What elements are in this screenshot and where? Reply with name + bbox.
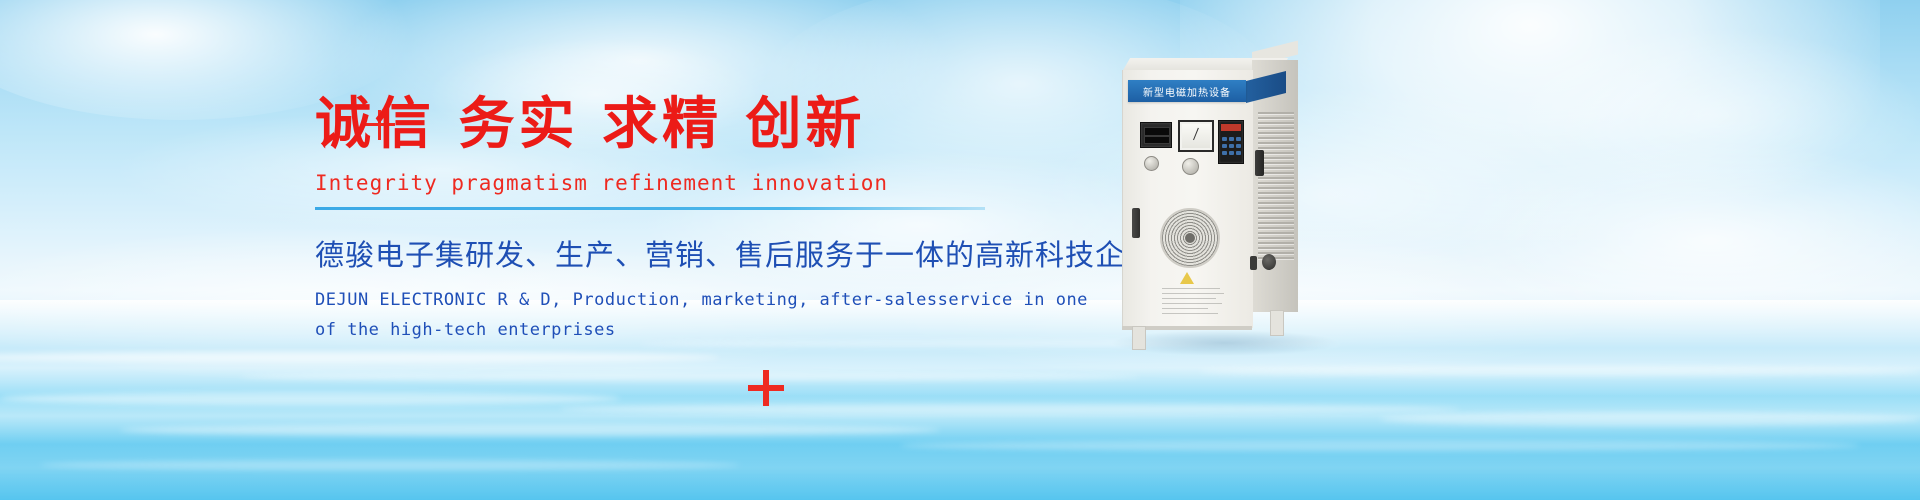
subtitle-english-line2: of the high-tech enterprises xyxy=(315,316,1035,346)
machine-handle xyxy=(1132,208,1140,238)
controller-display-bottom xyxy=(1144,136,1170,144)
headline-chinese: 诚信 务实 求精 创新 xyxy=(315,96,1035,155)
machine-label-banner: 新型电磁加热设备 xyxy=(1128,80,1246,102)
water-streak xyxy=(900,440,1860,451)
water-streak xyxy=(1380,412,1920,426)
water-streak xyxy=(0,392,620,405)
plus-mark-icon xyxy=(748,370,784,406)
warning-triangle-icon xyxy=(1180,272,1194,284)
water-streak xyxy=(40,460,740,470)
fan-grille xyxy=(1160,208,1220,268)
product-image-heating-machine: 新型电磁加热设备 xyxy=(1122,58,1312,358)
controller-display-top xyxy=(1144,127,1170,136)
subtitle-english-line1: DEJUN ELECTRONIC R & D, Production, mark… xyxy=(315,286,1035,316)
headline-english: Integrity pragmatism refinement innovati… xyxy=(315,171,1035,195)
machine-vent-slots xyxy=(1258,112,1294,262)
banner-copy: 诚信 务实 求精 创新 Integrity pragmatism refinem… xyxy=(315,96,1035,345)
promo-banner: 诚信 务实 求精 创新 Integrity pragmatism refinem… xyxy=(0,0,1920,500)
machine-leg xyxy=(1132,326,1146,350)
water-streak xyxy=(1200,366,1920,376)
machine-connector xyxy=(1250,256,1257,270)
potentiometer-knob[interactable] xyxy=(1182,158,1199,175)
machine-label-text: 新型电磁加热设备 xyxy=(1143,84,1231,99)
digital-controller[interactable] xyxy=(1140,122,1172,148)
water-streak xyxy=(240,372,1140,381)
divider xyxy=(315,207,985,210)
water-streak xyxy=(120,424,940,436)
machine-outlet-port xyxy=(1262,254,1276,270)
water-streak xyxy=(560,404,1460,414)
fan-hub xyxy=(1185,233,1195,243)
spec-label xyxy=(1162,288,1224,318)
subtitle-chinese: 德骏电子集研发、生产、营销、售后服务于一体的高新科技企业 xyxy=(315,232,1035,274)
gauge-dial xyxy=(1182,124,1210,148)
control-keypad[interactable] xyxy=(1218,120,1244,164)
selector-knob[interactable] xyxy=(1144,156,1159,171)
analog-gauge xyxy=(1178,120,1214,152)
machine-side-handle xyxy=(1255,150,1264,176)
machine-leg xyxy=(1270,310,1284,336)
keypad-display xyxy=(1221,124,1241,131)
